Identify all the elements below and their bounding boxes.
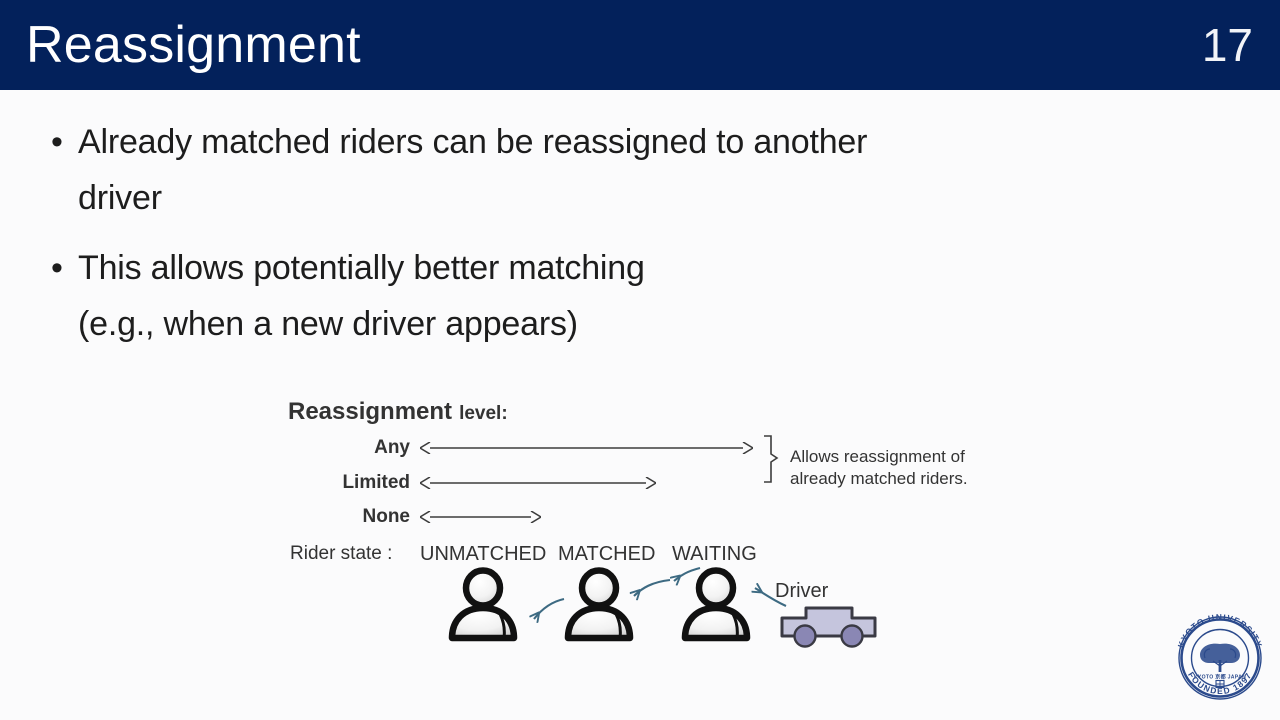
- state-label-unmatched: UNMATCHED: [420, 543, 546, 566]
- flow-arrow-waiting-to-matched: [634, 580, 670, 596]
- logo-tree-icon: [1200, 644, 1240, 672]
- page-title: Reassignment: [26, 9, 361, 81]
- rider-icon-matched: [568, 571, 630, 639]
- kyoto-university-seal-logo: KYOTO UNIVERSITY FOUNDED 1897 KYOTO 京都 J…: [1170, 608, 1270, 708]
- grouping-bracket: [764, 436, 777, 482]
- driver-car-icon: [782, 608, 875, 647]
- flow-arrow-matched-to-unmatched: [534, 599, 564, 619]
- bullet-list: • Already matched riders can be reassign…: [36, 114, 1176, 366]
- state-label-waiting: WAITING: [672, 543, 757, 566]
- list-item: • This allows potentially better matchin…: [36, 240, 1176, 352]
- bracket-annotation-text: Allows reassignment of already matched r…: [790, 446, 968, 490]
- page-number: 17: [1202, 12, 1253, 78]
- rider-state-label: Rider state :: [290, 543, 392, 565]
- reassignment-diagram: Reassignmentlevel: Any Limited None Allo…: [288, 398, 1008, 673]
- rider-icon-unmatched: [452, 571, 514, 639]
- riders-and-driver-illustration: [438, 566, 1018, 666]
- logo-center-text: KYOTO 京都 JAPAN: [1194, 674, 1246, 681]
- bullet-text: This allows potentially better matching …: [78, 240, 645, 352]
- bullet-marker-icon: •: [36, 114, 78, 170]
- list-item: • Already matched riders can be reassign…: [36, 114, 1176, 226]
- bullet-marker-icon: •: [36, 240, 78, 296]
- logo-top-text: KYOTO UNIVERSITY: [1176, 612, 1265, 649]
- state-label-matched: MATCHED: [558, 543, 655, 566]
- driver-label: Driver: [775, 580, 828, 603]
- flow-arrow-driver-to-waiting: [674, 568, 700, 581]
- bullet-text: Already matched riders can be reassigned…: [78, 114, 867, 226]
- rider-icon-waiting: [685, 571, 747, 639]
- slide: Reassignment 17 • Already matched riders…: [0, 0, 1280, 720]
